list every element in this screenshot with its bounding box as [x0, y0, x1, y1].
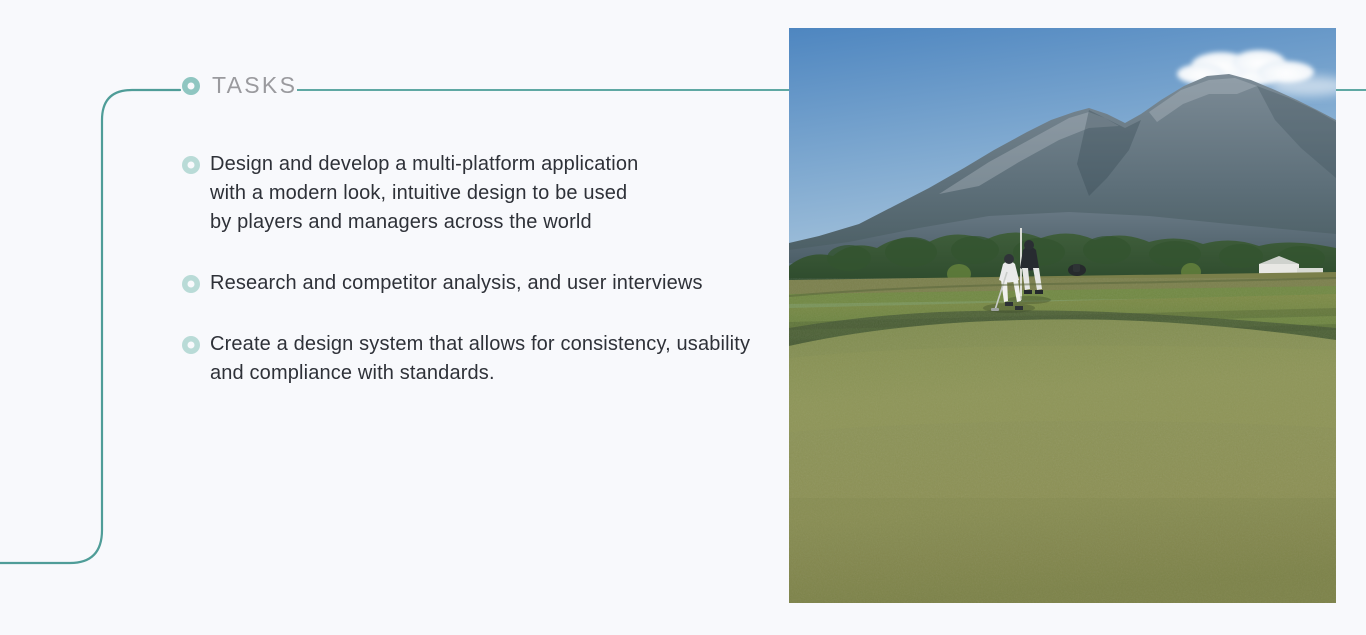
golf-course-illustration	[789, 28, 1336, 603]
ring-bullet-icon	[182, 336, 200, 354]
golf-bag-icon	[1068, 264, 1086, 276]
list-item: Design and develop a multi-platform appl…	[182, 150, 792, 237]
rounded-bracket-line	[0, 60, 200, 600]
ring-bullet-icon	[182, 275, 200, 293]
golf-course-photo	[789, 28, 1336, 603]
tasks-list: Design and develop a multi-platform appl…	[182, 150, 792, 420]
list-item-text: Design and develop a multi-platform appl…	[210, 150, 638, 237]
decorative-bracket	[0, 60, 200, 600]
ring-bullet-icon	[182, 156, 200, 174]
slide-canvas: TASKS Design and develop a multi-platfor…	[0, 0, 1366, 635]
list-item: Create a design system that allows for c…	[182, 330, 792, 388]
list-item: Research and competitor analysis, and us…	[182, 269, 792, 298]
list-item-text: Research and competitor analysis, and us…	[210, 269, 703, 298]
page-title: TASKS	[212, 74, 297, 97]
ring-marker-icon	[182, 77, 200, 95]
page-title-group: TASKS	[182, 74, 297, 97]
list-item-text: Create a design system that allows for c…	[210, 330, 750, 388]
